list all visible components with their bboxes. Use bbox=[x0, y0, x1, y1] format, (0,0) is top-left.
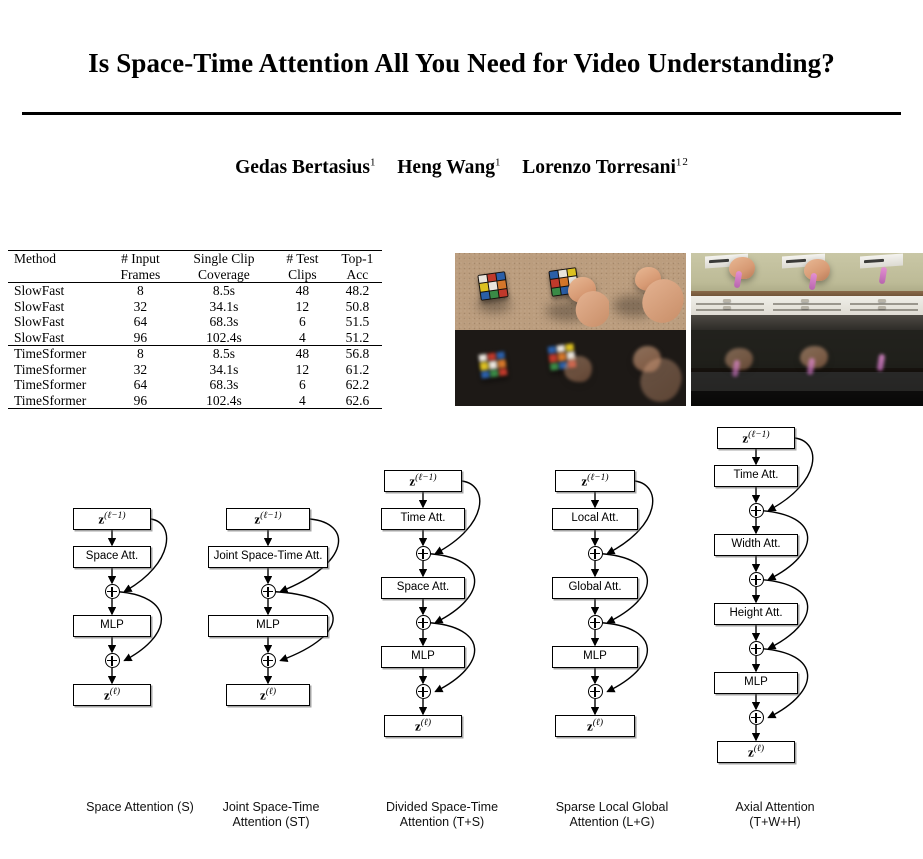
block-label: MLP bbox=[100, 620, 124, 632]
cell-method: SlowFast bbox=[8, 314, 105, 330]
drawer-seam bbox=[850, 303, 918, 305]
block-label: Joint Space-Time Att. bbox=[214, 551, 323, 563]
drawer-knob bbox=[723, 299, 731, 302]
author-name: Heng Wang bbox=[397, 157, 495, 178]
block-label: Space Att. bbox=[397, 582, 449, 594]
cell-test-clips: 6 bbox=[272, 377, 333, 393]
input-embedding-box: z(ℓ−1) bbox=[555, 470, 635, 492]
video-frame bbox=[768, 253, 845, 330]
cell-input-frames: 64 bbox=[105, 314, 176, 330]
input-embedding-box: z(ℓ−1) bbox=[73, 508, 151, 530]
drawer-knob bbox=[878, 299, 886, 302]
layer-superscript: (ℓ) bbox=[421, 718, 431, 728]
block-label: MLP bbox=[583, 651, 607, 663]
cell-method: SlowFast bbox=[8, 283, 105, 299]
residual-add bbox=[588, 615, 603, 630]
residual-add bbox=[588, 684, 603, 699]
drawer-seam bbox=[696, 309, 764, 311]
col-header-method: Method bbox=[8, 251, 105, 267]
shelf-slot bbox=[709, 259, 728, 263]
col-header-input-frames: # Input bbox=[105, 251, 176, 267]
page-title: Is Space-Time Attention All You Need for… bbox=[0, 48, 923, 79]
block-time-att: Time Att. bbox=[381, 508, 465, 530]
video-frame bbox=[691, 330, 768, 407]
residual-add bbox=[416, 615, 431, 630]
video-frame bbox=[768, 330, 845, 407]
block-label: Time Att. bbox=[734, 470, 779, 482]
block-global-att: Global Att. bbox=[552, 577, 638, 599]
residual-add bbox=[749, 503, 764, 518]
block-mlp: MLP bbox=[381, 646, 465, 668]
residual-add bbox=[261, 584, 276, 599]
residual-add bbox=[749, 641, 764, 656]
floor bbox=[846, 391, 923, 406]
embedding-label: z(ℓ) bbox=[415, 719, 431, 732]
cell-single-clip-coverage: 34.1s bbox=[176, 362, 272, 378]
cell-top1-acc: 51.5 bbox=[333, 314, 382, 330]
cell-top1-acc: 62.6 bbox=[333, 393, 382, 409]
floor bbox=[768, 315, 845, 330]
author-list: Gedas Bertasius1 Heng Wang1 Lorenzo Torr… bbox=[0, 156, 923, 179]
block-mlp: MLP bbox=[208, 615, 328, 637]
col-header-single-clip-coverage: Single Clip bbox=[176, 251, 272, 267]
block-label: Width Att. bbox=[731, 539, 780, 551]
embedding-label: z(ℓ) bbox=[748, 745, 764, 758]
embedding-label: z(ℓ−1) bbox=[409, 474, 436, 487]
upper-shelf bbox=[860, 253, 903, 268]
embedding-label: z(ℓ) bbox=[104, 688, 120, 701]
block-local-att: Local Att. bbox=[552, 508, 638, 530]
cell-method: SlowFast bbox=[8, 299, 105, 315]
block-mlp: MLP bbox=[714, 672, 798, 694]
residual-add bbox=[749, 572, 764, 587]
table-row: SlowFast96102.4s451.2 bbox=[8, 330, 382, 346]
caption-axial-attention: Axial Attention (T+W+H) bbox=[690, 800, 860, 830]
hand bbox=[804, 259, 830, 281]
cell-single-clip-coverage: 8.5s bbox=[176, 283, 272, 299]
col-header-input-frames-2: Frames bbox=[105, 267, 176, 283]
caption-sparse-local-global: Sparse Local Global Attention (L+G) bbox=[522, 800, 702, 830]
input-embedding-box: z(ℓ−1) bbox=[717, 427, 795, 449]
cell-test-clips: 12 bbox=[272, 362, 333, 378]
block-label: MLP bbox=[411, 651, 435, 663]
block-mlp: MLP bbox=[552, 646, 638, 668]
block-joint-space-time-att: Joint Space-Time Att. bbox=[208, 546, 328, 568]
cell-test-clips: 48 bbox=[272, 346, 333, 362]
block-label: Space Att. bbox=[86, 551, 138, 563]
cabinet bbox=[768, 296, 845, 316]
output-embedding-box: z(ℓ) bbox=[384, 715, 462, 737]
results-table: Method # Input Single Clip # Test Top-1 … bbox=[8, 250, 382, 409]
layer-superscript: (ℓ) bbox=[266, 687, 276, 697]
drawer-knob bbox=[801, 299, 809, 302]
layer-superscript: (ℓ−1) bbox=[260, 511, 281, 521]
author-affiliation-marker-2: 2 bbox=[682, 156, 688, 168]
architecture-diagrams: z(ℓ−1)Space Att.MLPz(ℓ)z(ℓ−1)Joint Space… bbox=[0, 415, 923, 859]
shelf-slot bbox=[864, 259, 883, 263]
video-frame bbox=[455, 330, 532, 407]
cabinet bbox=[691, 296, 768, 316]
block-time-att: Time Att. bbox=[714, 465, 798, 487]
results-table-body: SlowFast88.5s4848.2SlowFast3234.1s1250.8… bbox=[8, 283, 382, 409]
layer-superscript: (ℓ) bbox=[593, 718, 603, 728]
col-header-test-clips-2: Clips bbox=[272, 267, 333, 283]
cell-method: TimeSformer bbox=[8, 377, 105, 393]
block-label: MLP bbox=[256, 620, 280, 632]
caption-line: Attention (L+G) bbox=[522, 815, 702, 830]
layer-superscript: (ℓ) bbox=[110, 687, 120, 697]
diagram-sparse-local-global-attention: z(ℓ−1)Local Att.Global Att.MLPz(ℓ) bbox=[522, 415, 692, 743]
cell-input-frames: 96 bbox=[105, 330, 176, 346]
output-embedding-box: z(ℓ) bbox=[226, 684, 310, 706]
col-header-top1-acc-2: Acc bbox=[333, 267, 382, 283]
layer-superscript: (ℓ−1) bbox=[748, 430, 769, 440]
embedding-label: z(ℓ−1) bbox=[254, 512, 281, 525]
caption-line: Attention (ST) bbox=[190, 815, 352, 830]
caption-line: Sparse Local Global bbox=[522, 800, 702, 815]
caption-line: Divided Space-Time bbox=[352, 800, 532, 815]
table-row: SlowFast6468.3s651.5 bbox=[8, 314, 382, 330]
cell-input-frames: 96 bbox=[105, 393, 176, 409]
video-strip-rubiks-cube bbox=[455, 253, 686, 406]
floor bbox=[691, 391, 768, 406]
cell-test-clips: 12 bbox=[272, 299, 333, 315]
drawer-seam bbox=[773, 309, 841, 311]
table-row: TimeSformer96102.4s462.6 bbox=[8, 393, 382, 409]
author-affiliation-marker: 1 bbox=[370, 156, 376, 168]
block-width-att: Width Att. bbox=[714, 534, 798, 556]
caption-joint-space-time: Joint Space-Time Attention (ST) bbox=[190, 800, 352, 830]
cell-method: TimeSformer bbox=[8, 346, 105, 362]
hand bbox=[564, 356, 592, 382]
cell-method: TimeSformer bbox=[8, 362, 105, 378]
author-entry: Gedas Bertasius1 bbox=[235, 157, 380, 178]
video-frame bbox=[609, 253, 686, 330]
rubiks-cube bbox=[477, 271, 508, 301]
video-frame bbox=[455, 253, 532, 330]
cell-test-clips: 48 bbox=[272, 283, 333, 299]
residual-add bbox=[588, 546, 603, 561]
cell-top1-acc: 50.8 bbox=[333, 299, 382, 315]
drawer-seam bbox=[773, 303, 841, 305]
caption-line: Axial Attention bbox=[690, 800, 860, 815]
output-embedding-box: z(ℓ) bbox=[717, 741, 795, 763]
table-row: TimeSformer3234.1s1261.2 bbox=[8, 362, 382, 378]
cell-top1-acc: 51.2 bbox=[333, 330, 382, 346]
author-entry: Heng Wang1 bbox=[397, 157, 505, 178]
drawer-seam bbox=[850, 309, 918, 311]
block-label: Time Att. bbox=[401, 513, 446, 525]
cell-top1-acc: 48.2 bbox=[333, 283, 382, 299]
drawer-knob bbox=[801, 306, 809, 309]
video-frame bbox=[846, 330, 923, 407]
author-name: Lorenzo Torresani bbox=[522, 157, 676, 178]
cell-single-clip-coverage: 68.3s bbox=[176, 377, 272, 393]
shelf-slot bbox=[787, 259, 806, 263]
cell-single-clip-coverage: 68.3s bbox=[176, 314, 272, 330]
video-frame bbox=[691, 253, 768, 330]
cabinet bbox=[768, 372, 845, 392]
author-name: Gedas Bertasius bbox=[235, 157, 370, 178]
col-header-test-clips: # Test bbox=[272, 251, 333, 267]
embedding-label: z(ℓ−1) bbox=[98, 512, 125, 525]
diagram-divided-space-time-attention: z(ℓ−1)Time Att.Space Att.MLPz(ℓ) bbox=[352, 415, 522, 743]
block-space-att: Space Att. bbox=[381, 577, 465, 599]
caption-line: Attention (T+S) bbox=[352, 815, 532, 830]
diagram-axial-attention: z(ℓ−1)Time Att.Width Att.Height Att.MLPz… bbox=[690, 415, 860, 769]
col-header-top1-acc: Top-1 bbox=[333, 251, 382, 267]
cell-input-frames: 8 bbox=[105, 346, 176, 362]
video-frame bbox=[846, 253, 923, 330]
author-affiliation-marker: 1 bbox=[676, 156, 682, 168]
cell-method: SlowFast bbox=[8, 330, 105, 346]
layer-superscript: (ℓ) bbox=[754, 744, 764, 754]
block-label: Global Att. bbox=[568, 582, 621, 594]
video-frame bbox=[532, 253, 609, 330]
cabinet bbox=[846, 296, 923, 316]
cell-top1-acc: 61.2 bbox=[333, 362, 382, 378]
cell-input-frames: 8 bbox=[105, 283, 176, 299]
block-height-att: Height Att. bbox=[714, 603, 798, 625]
residual-add bbox=[105, 584, 120, 599]
diagram-space-attention: z(ℓ−1)Space Att.MLPz(ℓ) bbox=[40, 415, 210, 712]
block-label: Height Att. bbox=[729, 608, 782, 620]
caption-line: (T+W+H) bbox=[690, 815, 860, 830]
block-label: Local Att. bbox=[571, 513, 618, 525]
cell-test-clips: 6 bbox=[272, 314, 333, 330]
cell-single-clip-coverage: 8.5s bbox=[176, 346, 272, 362]
cell-input-frames: 32 bbox=[105, 362, 176, 378]
results-table-container: Method # Input Single Clip # Test Top-1 … bbox=[8, 250, 382, 409]
cell-input-frames: 32 bbox=[105, 299, 176, 315]
residual-add bbox=[261, 653, 276, 668]
cabinet bbox=[691, 372, 768, 392]
block-mlp: MLP bbox=[73, 615, 151, 637]
video-frame bbox=[609, 330, 686, 407]
cell-single-clip-coverage: 34.1s bbox=[176, 299, 272, 315]
residual-add bbox=[416, 684, 431, 699]
diagram-joint-space-time-attention: z(ℓ−1)Joint Space-Time Att.MLPz(ℓ) bbox=[190, 415, 360, 712]
drawer-knob bbox=[878, 306, 886, 309]
video-frame bbox=[532, 330, 609, 407]
col-header-single-clip-coverage-2: Coverage bbox=[176, 267, 272, 283]
drawer-knob bbox=[723, 306, 731, 309]
residual-add bbox=[416, 546, 431, 561]
video-strip-drawer bbox=[691, 253, 923, 406]
table-row: SlowFast88.5s4848.2 bbox=[8, 283, 382, 299]
title-divider bbox=[22, 112, 901, 115]
cell-single-clip-coverage: 102.4s bbox=[176, 330, 272, 346]
dark-overlay-scene bbox=[846, 330, 923, 407]
layer-superscript: (ℓ−1) bbox=[415, 473, 436, 483]
cell-input-frames: 64 bbox=[105, 377, 176, 393]
table-row: TimeSformer6468.3s662.2 bbox=[8, 377, 382, 393]
caption-line: Joint Space-Time bbox=[190, 800, 352, 815]
rubiks-cube bbox=[477, 350, 508, 380]
wall bbox=[846, 330, 923, 372]
cell-test-clips: 4 bbox=[272, 393, 333, 409]
residual-add bbox=[749, 710, 764, 725]
input-embedding-box: z(ℓ−1) bbox=[226, 508, 310, 530]
author-affiliation-marker: 1 bbox=[495, 156, 501, 168]
layer-superscript: (ℓ−1) bbox=[587, 473, 608, 483]
table-row: SlowFast3234.1s1250.8 bbox=[8, 299, 382, 315]
cell-single-clip-coverage: 102.4s bbox=[176, 393, 272, 409]
table-header-row-2: Frames Coverage Clips Acc bbox=[8, 267, 382, 283]
output-embedding-box: z(ℓ) bbox=[73, 684, 151, 706]
caption-divided-space-time: Divided Space-Time Attention (T+S) bbox=[352, 800, 532, 830]
cabinet bbox=[846, 372, 923, 392]
residual-add bbox=[105, 653, 120, 668]
cell-test-clips: 4 bbox=[272, 330, 333, 346]
col-header-method-2 bbox=[8, 267, 105, 283]
cell-top1-acc: 56.8 bbox=[333, 346, 382, 362]
floor bbox=[691, 315, 768, 330]
author-entry: Lorenzo Torresani12 bbox=[522, 157, 688, 178]
embedding-label: z(ℓ−1) bbox=[742, 431, 769, 444]
embedding-label: z(ℓ) bbox=[587, 719, 603, 732]
embedding-label: z(ℓ−1) bbox=[581, 474, 608, 487]
cell-top1-acc: 62.2 bbox=[333, 377, 382, 393]
output-embedding-box: z(ℓ) bbox=[555, 715, 635, 737]
floor bbox=[768, 391, 845, 406]
block-space-att: Space Att. bbox=[73, 546, 151, 568]
drawer-seam bbox=[696, 303, 764, 305]
table-header-row-1: Method # Input Single Clip # Test Top-1 bbox=[8, 251, 382, 267]
block-label: MLP bbox=[744, 677, 768, 689]
cell-method: TimeSformer bbox=[8, 393, 105, 409]
floor bbox=[846, 315, 923, 330]
table-row: TimeSformer88.5s4856.8 bbox=[8, 346, 382, 362]
layer-superscript: (ℓ−1) bbox=[104, 511, 125, 521]
hand bbox=[729, 257, 755, 279]
input-embedding-box: z(ℓ−1) bbox=[384, 470, 462, 492]
embedding-label: z(ℓ) bbox=[260, 688, 276, 701]
